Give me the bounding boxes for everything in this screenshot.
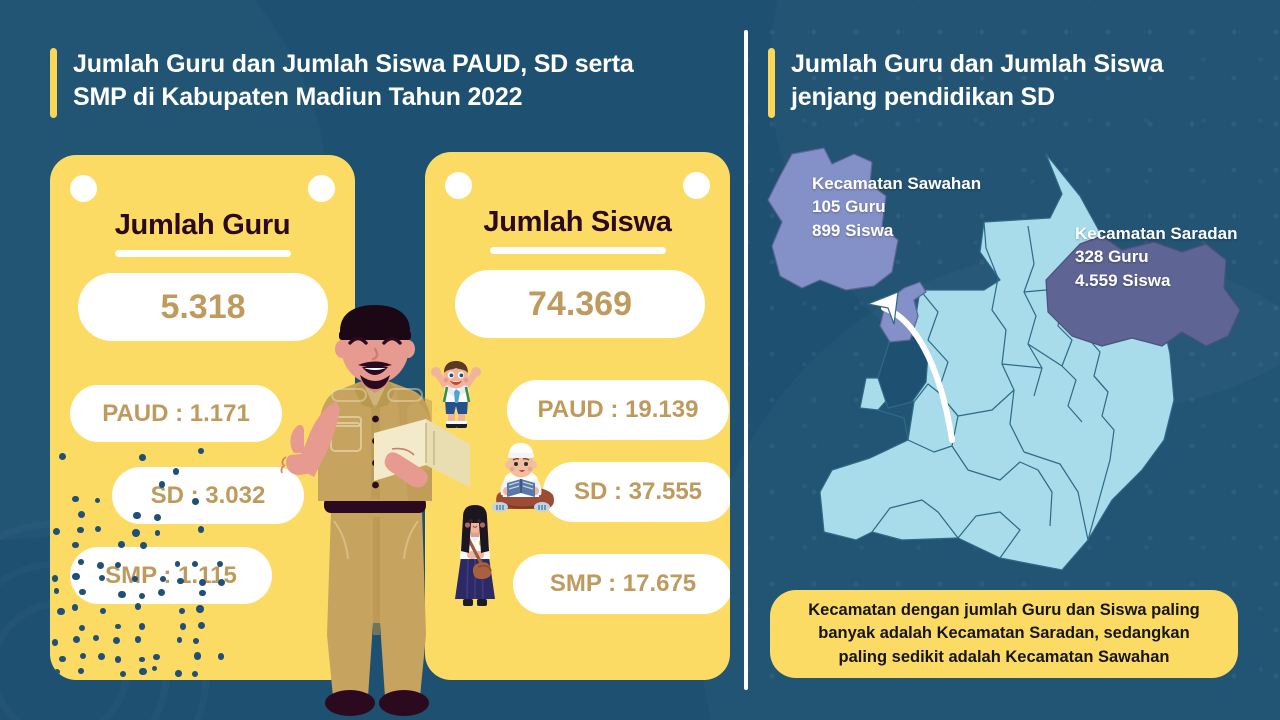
student-boy-cheering-illustration bbox=[427, 358, 485, 430]
guru-paud-value: PAUD : 1.171 bbox=[70, 385, 282, 442]
infographic-canvas: Jumlah Guru dan Jumlah Siswa PAUD, SD se… bbox=[0, 0, 1280, 720]
title-accent-bar bbox=[50, 48, 57, 118]
student-girl-illustration bbox=[447, 505, 503, 610]
siswa-smp-value: SMP : 17.675 bbox=[513, 554, 730, 614]
right-panel-title: Jumlah Guru dan Jumlah Siswa jenjang pen… bbox=[768, 48, 1238, 118]
card-punch-hole-left bbox=[445, 172, 472, 199]
card-punch-hole-right bbox=[308, 175, 335, 202]
vertical-divider bbox=[744, 30, 748, 690]
card-title-underline bbox=[115, 250, 291, 257]
card-punch-hole-right bbox=[683, 172, 710, 199]
title-accent-bar bbox=[768, 48, 775, 118]
left-panel-title: Jumlah Guru dan Jumlah Siswa PAUD, SD se… bbox=[50, 48, 710, 118]
siswa-total-value: 74.369 bbox=[455, 270, 705, 338]
siswa-sd-value: SD : 37.555 bbox=[543, 462, 730, 522]
guru-smp-value: SMP : 1.115 bbox=[70, 547, 272, 604]
siswa-paud-value: PAUD : 19.139 bbox=[507, 380, 729, 440]
map-label-saradan: Kecamatan Saradan 328 Guru 4.559 Siswa bbox=[1075, 222, 1238, 292]
card-punch-hole-left bbox=[70, 175, 97, 202]
card-title-guru: Jumlah Guru bbox=[50, 209, 355, 242]
map-label-sawahan: Kecamatan Sawahan 105 Guru 899 Siswa bbox=[812, 172, 981, 242]
card-title-siswa: Jumlah Siswa bbox=[425, 206, 730, 239]
right-panel-title-text: Jumlah Guru dan Jumlah Siswa jenjang pen… bbox=[791, 48, 1163, 113]
map-caption-box: Kecamatan dengan jumlah Guru dan Siswa p… bbox=[770, 590, 1238, 678]
left-panel-title-text: Jumlah Guru dan Jumlah Siswa PAUD, SD se… bbox=[73, 48, 634, 113]
card-title-underline bbox=[490, 247, 666, 254]
